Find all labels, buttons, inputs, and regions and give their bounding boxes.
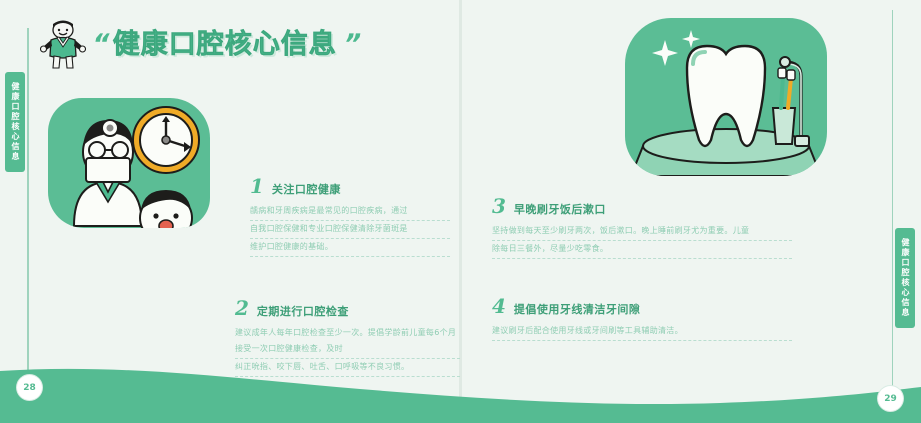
section-1-line-2: 自我口腔保健和专业口腔保健清除牙菌斑是 [250, 221, 450, 239]
mascot-figure-icon [40, 18, 86, 70]
section-3-header: 3 早晚刷牙饭后漱口 [492, 196, 792, 217]
section-4-line-1: 建议刷牙后配合使用牙线或牙间刷等工具辅助清洁。 [492, 323, 792, 341]
sidebar-tab-right: 健康口腔核心信息 [895, 228, 915, 328]
section-4-title: 提倡使用牙线清洁牙间隙 [514, 301, 641, 317]
section-4: 4 提倡使用牙线清洁牙间隙 建议刷牙后配合使用牙线或牙间刷等工具辅助清洁。 [492, 296, 792, 341]
section-4-number: 4 [492, 296, 506, 316]
right-vertical-rule [892, 10, 894, 402]
page-title: 健康口腔核心信息 [113, 31, 337, 58]
section-1-number: 1 [250, 176, 264, 196]
section-1-line-1: 龋病和牙周疾病是最常见的口腔疾病，通过 [250, 203, 450, 221]
section-1-title: 关注口腔健康 [272, 181, 341, 197]
sidebar-tab-left: 健康口腔核心信息 [5, 72, 25, 172]
dentist-and-child-illustration [48, 98, 210, 228]
magazine-spread: “ 健康口腔核心信息 ” [0, 0, 921, 423]
bottom-wave-decoration [0, 353, 921, 423]
title-open-quote: “ [89, 29, 110, 60]
tooth-and-sink-illustration [625, 18, 827, 176]
section-2-number: 2 [235, 298, 249, 318]
section-3-number: 3 [492, 196, 506, 216]
page-number-right: 29 [878, 386, 903, 411]
section-1-body: 龋病和牙周疾病是最常见的口腔疾病，通过 自我口腔保健和专业口腔保健清除牙菌斑是 … [250, 203, 450, 257]
left-vertical-rule [27, 28, 29, 380]
section-3-line-2: 除每日三餐外，尽量少吃零食。 [492, 241, 792, 259]
section-3-body: 坚持做到每天至少刷牙两次，饭后漱口。晚上睡前刷牙尤为重要。儿童 除每日三餐外，尽… [492, 223, 792, 259]
section-3-title: 早晚刷牙饭后漱口 [514, 201, 606, 217]
section-4-header: 4 提倡使用牙线清洁牙间隙 [492, 296, 792, 317]
section-4-body: 建议刷牙后配合使用牙线或牙间刷等工具辅助清洁。 [492, 323, 792, 341]
section-2-header: 2 定期进行口腔检查 [235, 298, 460, 319]
section-3: 3 早晚刷牙饭后漱口 坚持做到每天至少刷牙两次，饭后漱口。晚上睡前刷牙尤为重要。… [492, 196, 792, 259]
section-3-line-1: 坚持做到每天至少刷牙两次，饭后漱口。晚上睡前刷牙尤为重要。儿童 [492, 223, 792, 241]
section-1: 1 关注口腔健康 龋病和牙周疾病是最常见的口腔疾病，通过 自我口腔保健和专业口腔… [250, 176, 450, 257]
title-block: “ 健康口腔核心信息 ” [40, 18, 358, 70]
page-number-left: 28 [17, 375, 42, 400]
section-1-header: 1 关注口腔健康 [250, 176, 450, 197]
section-1-line-3: 维护口腔健康的基础。 [250, 239, 450, 257]
section-2-title: 定期进行口腔检查 [257, 303, 349, 319]
